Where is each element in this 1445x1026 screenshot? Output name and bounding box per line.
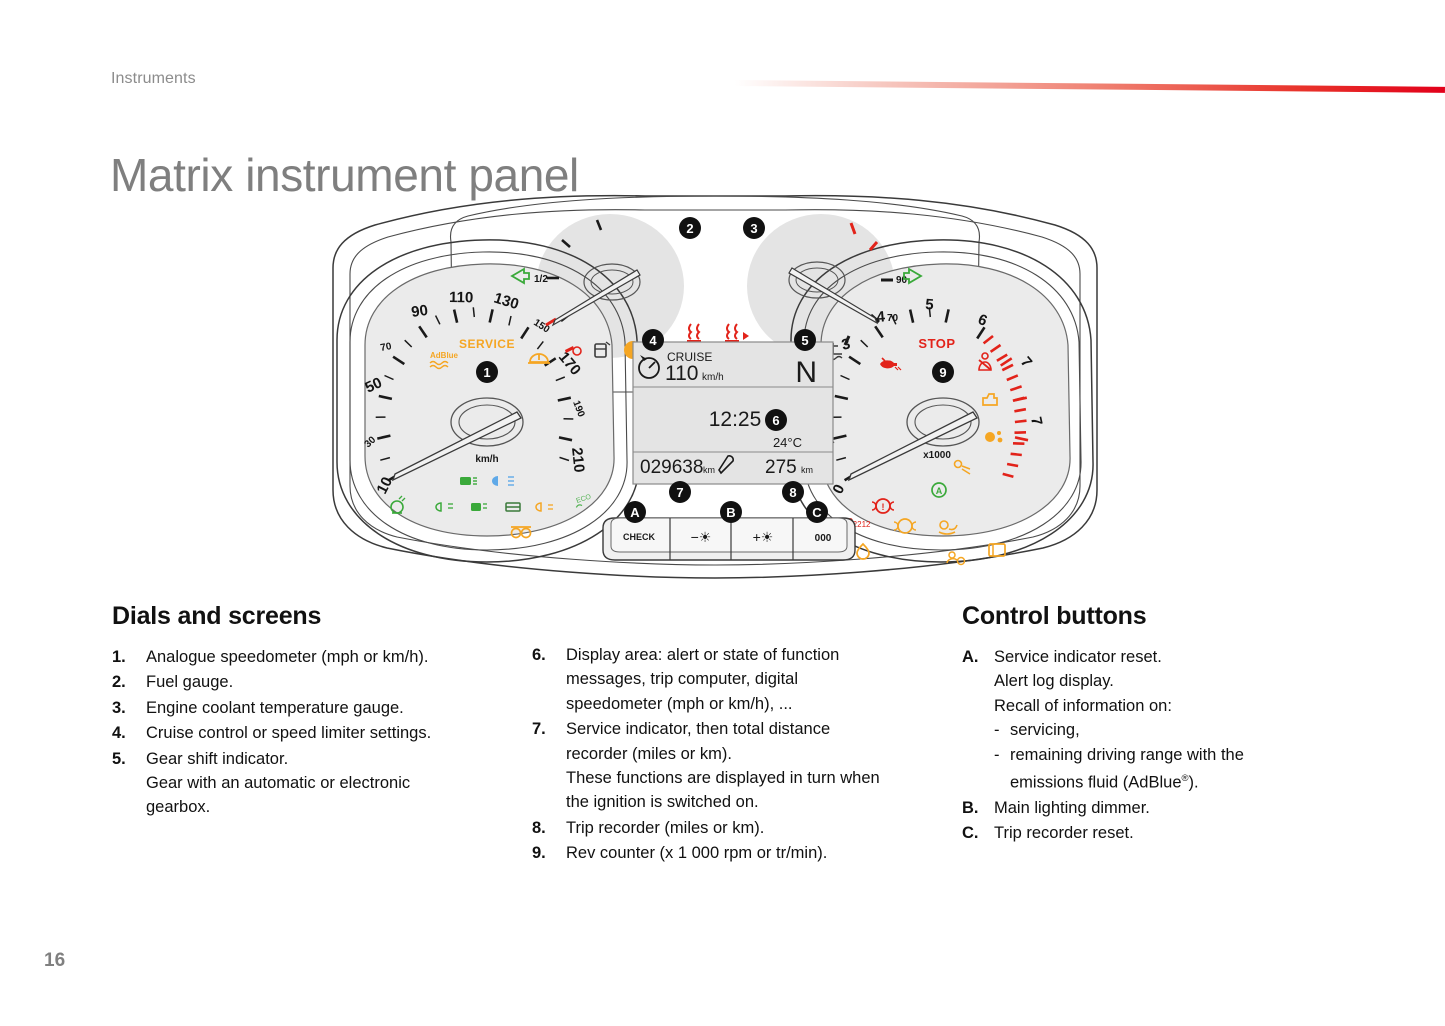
list-item-body: Trip recorder (miles or km). <box>566 816 944 840</box>
callout-a: A <box>624 501 646 523</box>
list-item-line: Service indicator reset. <box>994 645 1362 669</box>
list-item: 1. Analogue speedometer (mph or km/h). <box>112 645 532 669</box>
rev-counter-unit-label: x1000 <box>923 450 951 461</box>
svg-text:4: 4 <box>649 333 657 348</box>
button-check-label[interactable]: CHECK <box>623 532 656 542</box>
header-accent-rule <box>735 80 1445 93</box>
callout-4: 4 <box>642 329 664 351</box>
list-item-line: Gear with an automatic or electronic <box>146 771 532 795</box>
odometer-unit: km <box>703 465 715 475</box>
callout-1: 1 <box>476 361 498 383</box>
list-item-line: Analogue speedometer (mph or km/h). <box>146 645 532 669</box>
list-item-body: Service indicator reset. Alert log displ… <box>994 645 1362 795</box>
list-item-marker: 8. <box>532 816 566 840</box>
svg-text:AdBlue: AdBlue <box>430 351 459 360</box>
list-item-line: Main lighting dimmer. <box>994 796 1362 820</box>
list-item-body: Analogue speedometer (mph or km/h). <box>146 645 532 669</box>
svg-text:7: 7 <box>676 485 683 500</box>
list-subitem-dash: - <box>994 718 1010 742</box>
button-bar: CHECK −☀ +☀ 000 <box>603 518 855 560</box>
list-item-marker: 9. <box>532 841 566 865</box>
svg-text:210: 210 <box>568 447 588 474</box>
list-subitem-dash <box>994 767 1010 795</box>
cruise-unit: km/h <box>702 372 724 383</box>
dials-and-screens-section: Dials and screens 1. Analogue speedomete… <box>112 602 532 821</box>
button-dim-up-label[interactable]: +☀ <box>753 529 774 545</box>
list-item-line: Recall of information on: <box>994 694 1362 718</box>
svg-text:A: A <box>630 505 640 520</box>
list-item-marker: 6. <box>532 643 566 716</box>
control-buttons-heading: Control buttons <box>962 602 1362 631</box>
list-subitem-dash: - <box>994 743 1010 767</box>
list-item-line: speedometer (mph or km/h), ... <box>566 692 944 716</box>
svg-text:B: B <box>726 505 735 520</box>
list-item-line: Trip recorder (miles or km). <box>566 816 944 840</box>
outside-temperature: 24°C <box>773 435 802 450</box>
svg-text:1: 1 <box>483 365 490 380</box>
list-item-marker: 2. <box>112 670 146 694</box>
svg-text:C: C <box>812 505 822 520</box>
dials-and-screens-list-right: 6. Display area: alert or state of funct… <box>532 643 944 867</box>
button-trip-reset-label[interactable]: 000 <box>815 533 832 544</box>
list-item-body: Gear shift indicator. Gear with an autom… <box>146 747 532 820</box>
fuel-half-label: 1/2 <box>534 274 548 285</box>
svg-text:3: 3 <box>750 221 757 236</box>
callout-7: 7 <box>669 481 691 503</box>
list-item-line: Gear shift indicator. <box>146 747 532 771</box>
glowplug-telltales <box>687 324 701 341</box>
list-item: 2. Fuel gauge. <box>112 670 532 694</box>
list-item-line: Alert log display. <box>994 669 1362 693</box>
list-item-body: Main lighting dimmer. <box>994 796 1362 820</box>
svg-text:5: 5 <box>925 296 935 314</box>
clock-display: 12:25 <box>709 408 762 431</box>
callout-6: 6 <box>765 409 787 431</box>
list-item-body: Display area: alert or state of function… <box>566 643 944 716</box>
list-item: A. Service indicator reset. Alert log di… <box>962 645 1362 795</box>
list-item: 9. Rev counter (x 1 000 rpm or tr/min). <box>532 841 944 865</box>
list-item: B. Main lighting dimmer. <box>962 796 1362 820</box>
callout-8: 8 <box>782 481 804 503</box>
registered-mark: ® <box>1182 773 1189 784</box>
dials-and-screens-heading: Dials and screens <box>112 602 532 631</box>
callout-b: B <box>720 501 742 523</box>
list-subitem: emissions fluid (AdBlue®). <box>994 767 1362 795</box>
callout-3: 3 <box>743 217 765 239</box>
list-item: 8. Trip recorder (miles or km). <box>532 816 944 840</box>
list-item-marker: A. <box>962 645 994 795</box>
svg-text:9: 9 <box>939 365 946 380</box>
central-display: CRUISE 110 km/h N 12:25 24°C 029638 km 2… <box>633 342 833 484</box>
list-item-line: the ignition is switched on. <box>566 790 944 814</box>
list-item: 5. Gear shift indicator. Gear with an au… <box>112 747 532 820</box>
page-number: 16 <box>44 950 65 972</box>
cruise-speed: 110 <box>665 362 698 385</box>
control-buttons-list: A. Service indicator reset. Alert log di… <box>962 645 1362 846</box>
svg-text:110: 110 <box>449 289 473 306</box>
button-dim-down-label[interactable]: −☀ <box>691 529 712 545</box>
callout-5: 5 <box>794 329 816 351</box>
svg-text:2: 2 <box>686 221 693 236</box>
list-item-body: Rev counter (x 1 000 rpm or tr/min). <box>566 841 944 865</box>
list-item-body: Engine coolant temperature gauge. <box>146 696 532 720</box>
rev-counter-face <box>821 264 1070 536</box>
temp-low-label: 70 <box>887 313 899 324</box>
list-item-body: Service indicator, then total distance r… <box>566 717 944 815</box>
list-item-marker: 5. <box>112 747 146 820</box>
list-subitem-text: remaining driving range with the <box>1010 743 1362 767</box>
svg-text:6: 6 <box>772 413 779 428</box>
callout-9: 9 <box>932 361 954 383</box>
dials-and-screens-list-left: 1. Analogue speedometer (mph or km/h). 2… <box>112 645 532 820</box>
gear-indicator: N <box>795 356 817 389</box>
list-subitem-text: servicing, <box>1010 718 1362 742</box>
list-item-marker: 1. <box>112 645 146 669</box>
list-item-marker: 3. <box>112 696 146 720</box>
list-item: 4. Cruise control or speed limiter setti… <box>112 721 532 745</box>
trip-value: 275 <box>765 457 797 478</box>
list-subitem: - servicing, <box>994 718 1362 742</box>
list-item-marker: 7. <box>532 717 566 815</box>
callout-c: C <box>806 501 828 523</box>
list-item-line: Fuel gauge. <box>146 670 532 694</box>
list-item-line: Trip recorder reset. <box>994 821 1362 845</box>
list-item-line: Rev counter (x 1 000 rpm or tr/min). <box>566 841 944 865</box>
trip-unit: km <box>801 465 813 475</box>
list-item-line: Display area: alert or state of function <box>566 643 944 667</box>
list-item-body: Cruise control or speed limiter settings… <box>146 721 532 745</box>
list-item: C. Trip recorder reset. <box>962 821 1362 845</box>
list-item: 7. Service indicator, then total distanc… <box>532 717 944 815</box>
speedometer-unit-label: km/h <box>475 454 498 465</box>
list-item-marker: C. <box>962 821 994 845</box>
list-subitem-text-adblue: emissions fluid (AdBlue®). <box>1010 767 1362 795</box>
list-item-line: These functions are displayed in turn wh… <box>566 766 944 790</box>
control-buttons-section: Control buttons A. Service indicator res… <box>962 602 1362 847</box>
instrument-cluster-figure: .ol { fill:none; stroke:#3a3a3a; stroke-… <box>225 190 1205 580</box>
rev-counter-stop-text: STOP <box>918 336 955 351</box>
svg-text:!: ! <box>882 502 885 512</box>
breadcrumb-instruments: Instruments <box>111 70 196 88</box>
speedometer-service-text: SERVICE <box>459 337 515 351</box>
list-item-line: gearbox. <box>146 795 532 819</box>
svg-text:5: 5 <box>801 333 808 348</box>
odometer-value: 029638 <box>640 457 703 478</box>
list-item-marker: B. <box>962 796 994 820</box>
list-item-line: Engine coolant temperature gauge. <box>146 696 532 720</box>
list-item-body: Trip recorder reset. <box>994 821 1362 845</box>
list-item: 6. Display area: alert or state of funct… <box>532 643 944 716</box>
svg-text:8: 8 <box>789 485 796 500</box>
glowplug-telltales-2 <box>725 324 749 341</box>
temp-high-label: 90 <box>896 275 908 286</box>
list-subitem: - remaining driving range with the <box>994 743 1362 767</box>
list-item-line: messages, trip computer, digital <box>566 667 944 691</box>
list-item-line: Service indicator, then total distance <box>566 717 944 741</box>
callout-2: 2 <box>679 217 701 239</box>
list-item-marker: 4. <box>112 721 146 745</box>
svg-text:A: A <box>936 486 943 496</box>
list-item-body: Fuel gauge. <box>146 670 532 694</box>
list-item-line: Cruise control or speed limiter settings… <box>146 721 532 745</box>
list-item-line: recorder (miles or km). <box>566 742 944 766</box>
list-item: 3. Engine coolant temperature gauge. <box>112 696 532 720</box>
svg-text:90: 90 <box>410 302 429 321</box>
